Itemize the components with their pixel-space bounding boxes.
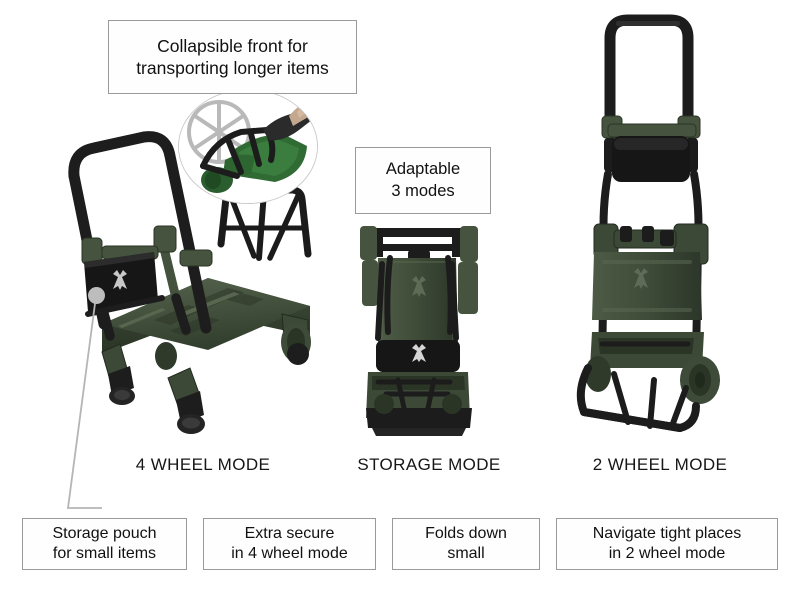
- rear-wheel: [281, 322, 311, 365]
- feature-box-navigate-tight-text: Navigate tight places in 2 wheel mode: [593, 524, 742, 565]
- rear-wheel: [155, 342, 177, 370]
- callout-adaptable-3-modes: Adaptable 3 modes: [355, 147, 491, 214]
- feature-box-navigate-tight: Navigate tight places in 2 wheel mode: [556, 518, 778, 570]
- feature-box-folds-down-text: Folds down small: [425, 524, 507, 565]
- callout-collapsible-front-text: Collapsible front for transporting longe…: [136, 35, 329, 80]
- wheel: [680, 356, 720, 404]
- mode-label-4-wheel: 4 WHEEL MODE: [118, 455, 288, 475]
- mode-label-storage-text: STORAGE MODE: [357, 455, 500, 474]
- feature-box-storage-pouch-text: Storage pouch for small items: [52, 524, 156, 565]
- mode-label-2-wheel-text: 2 WHEEL MODE: [593, 455, 728, 474]
- infographic-stage: Collapsible front for transporting longe…: [0, 0, 800, 600]
- feature-box-folds-down: Folds down small: [392, 518, 540, 570]
- feature-box-storage-pouch: Storage pouch for small items: [22, 518, 187, 570]
- callout-collapsible-front: Collapsible front for transporting longe…: [108, 20, 357, 94]
- mode-label-4-wheel-text: 4 WHEEL MODE: [136, 455, 271, 474]
- leader-dot-icon: [88, 287, 105, 304]
- mode-label-2-wheel: 2 WHEEL MODE: [575, 455, 745, 475]
- product-image-2-wheel-mode: [568, 8, 754, 448]
- feature-box-extra-secure: Extra secure in 4 wheel mode: [203, 518, 376, 570]
- feature-box-extra-secure-text: Extra secure in 4 wheel mode: [231, 524, 348, 565]
- product-image-storage-mode: [352, 222, 486, 444]
- callout-adaptable-text: Adaptable 3 modes: [386, 159, 460, 201]
- collapsible-front-detail-inset: [178, 89, 318, 204]
- mode-label-storage: STORAGE MODE: [345, 455, 513, 475]
